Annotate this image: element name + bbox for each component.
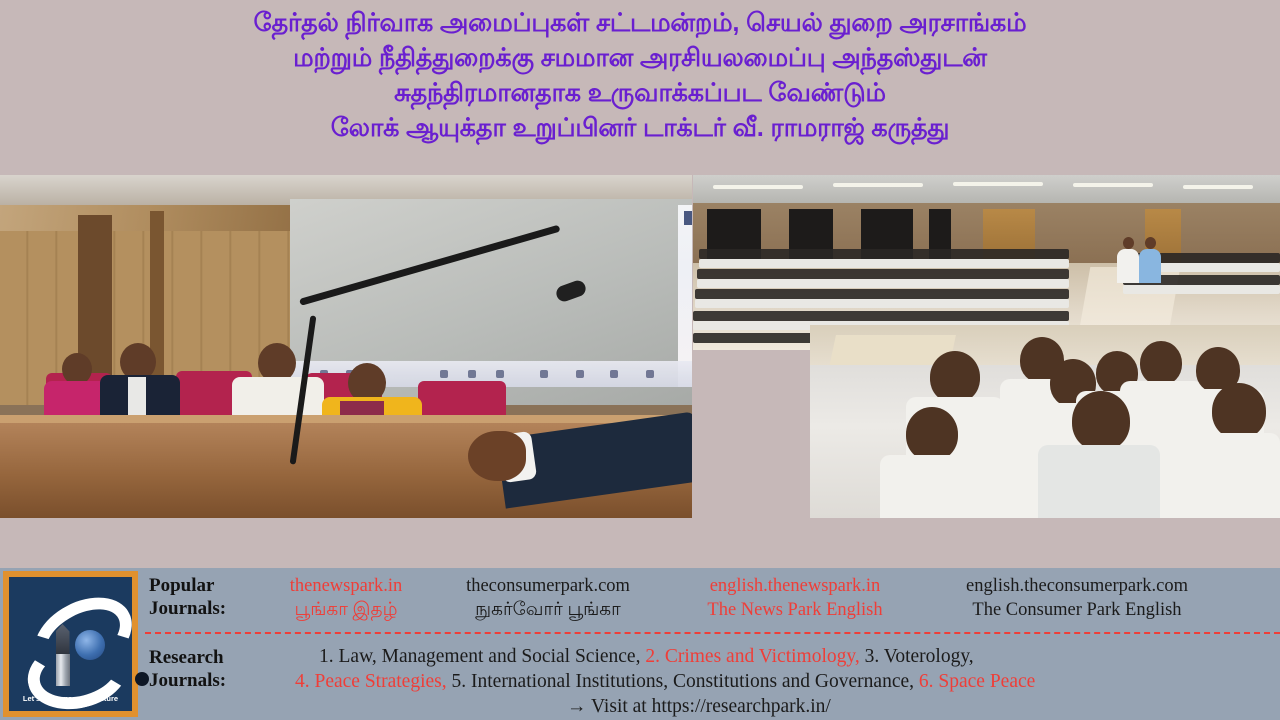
research-1b: 2. Crimes and Victimology, xyxy=(645,646,859,667)
popular-label-line1: Popular xyxy=(149,574,214,597)
footer-bar: Let's make peace a culture Popular Journ… xyxy=(0,568,1280,720)
research-2b: 5. International Institutions, Constitut… xyxy=(447,671,919,692)
research-label-line1: Research xyxy=(149,646,224,669)
research-line-1: 1. Law, Management and Social Science, 2… xyxy=(295,644,1280,669)
pen-body-icon xyxy=(56,654,70,686)
journal-url-4[interactable]: english.theconsumerpark.com xyxy=(927,574,1227,598)
journal-name-3: The News Park English xyxy=(665,598,925,622)
headline-line-2: மற்றும் நீதித்துறைக்கு சமமான அரசியலமைப்ப… xyxy=(293,41,987,76)
journal-col-theconsumerpark[interactable]: theconsumerpark.com நுகர்வோர் பூங்கா xyxy=(433,574,663,622)
journal-name-4: The Consumer Park English xyxy=(927,598,1227,622)
research-visit-line[interactable]: → Visit at https://researchpark.in/ xyxy=(295,694,1280,719)
research-lines: 1. Law, Management and Social Science, 2… xyxy=(295,644,1280,719)
popular-journals-row: Popular Journals: thenewspark.in பூங்கா … xyxy=(145,572,1280,630)
photo-band xyxy=(0,175,1280,568)
logo-art xyxy=(23,596,119,692)
speaker-hand xyxy=(468,431,526,481)
photo-audience-closeup xyxy=(810,325,1280,518)
research-label-line2: Journals: xyxy=(149,669,226,692)
journal-url-1[interactable]: thenewspark.in xyxy=(251,574,441,598)
journal-col-english-theconsumerpark[interactable]: english.theconsumerpark.com The Consumer… xyxy=(927,574,1227,622)
journal-name-1: பூங்கா இதழ் xyxy=(251,598,441,622)
projected-slide xyxy=(678,205,692,387)
researchpark-logo[interactable]: Let's make peace a culture xyxy=(3,571,138,717)
footer-divider xyxy=(145,632,1280,634)
research-journals-row: Research Journals: 1. Law, Management an… xyxy=(145,644,1280,720)
photo-speaker-podium xyxy=(0,175,692,518)
headline-line-1: தேர்தல் நிர்வாக அமைப்புகள் சட்டமன்றம், ச… xyxy=(254,6,1027,41)
headline-block: தேர்தல் நிர்வாக அமைப்புகள் சட்டமன்றம், ச… xyxy=(0,0,1280,175)
research-1a: 1. Law, Management and Social Science, xyxy=(319,646,645,667)
footer-text-area: Popular Journals: thenewspark.in பூங்கா … xyxy=(145,568,1280,720)
journal-col-thenewspark[interactable]: thenewspark.in பூங்கா இதழ் xyxy=(251,574,441,622)
journal-url-3[interactable]: english.thenewspark.in xyxy=(665,574,925,598)
headline-line-3: சுதந்திரமானதாக உருவாக்கப்பட வேண்டும் xyxy=(394,76,886,111)
eye-icon xyxy=(75,630,105,660)
logo-tagline: Let's make peace a culture xyxy=(9,694,132,703)
research-line-2: 4. Peace Strategies, 5. International In… xyxy=(295,669,1280,694)
photo-audience-wide xyxy=(693,175,1280,350)
research-2a: 4. Peace Strategies, xyxy=(295,671,447,692)
journal-name-2: நுகர்வோர் பூங்கா xyxy=(433,598,663,622)
journal-col-english-thenewspark[interactable]: english.thenewspark.in The News Park Eng… xyxy=(665,574,925,622)
news-poster: தேர்தல் நிர்வாக அமைப்புகள் சட்டமன்றம், ச… xyxy=(0,0,1280,720)
headline-line-4: லோக் ஆயுக்தா உறுப்பினர் டாக்டர் வீ. ராமர… xyxy=(331,111,950,146)
research-2c: 6. Space Peace xyxy=(919,671,1035,692)
journal-url-2[interactable]: theconsumerpark.com xyxy=(433,574,663,598)
popular-label-line2: Journals: xyxy=(149,597,226,620)
research-1c: 3. Voterology, xyxy=(860,646,974,667)
